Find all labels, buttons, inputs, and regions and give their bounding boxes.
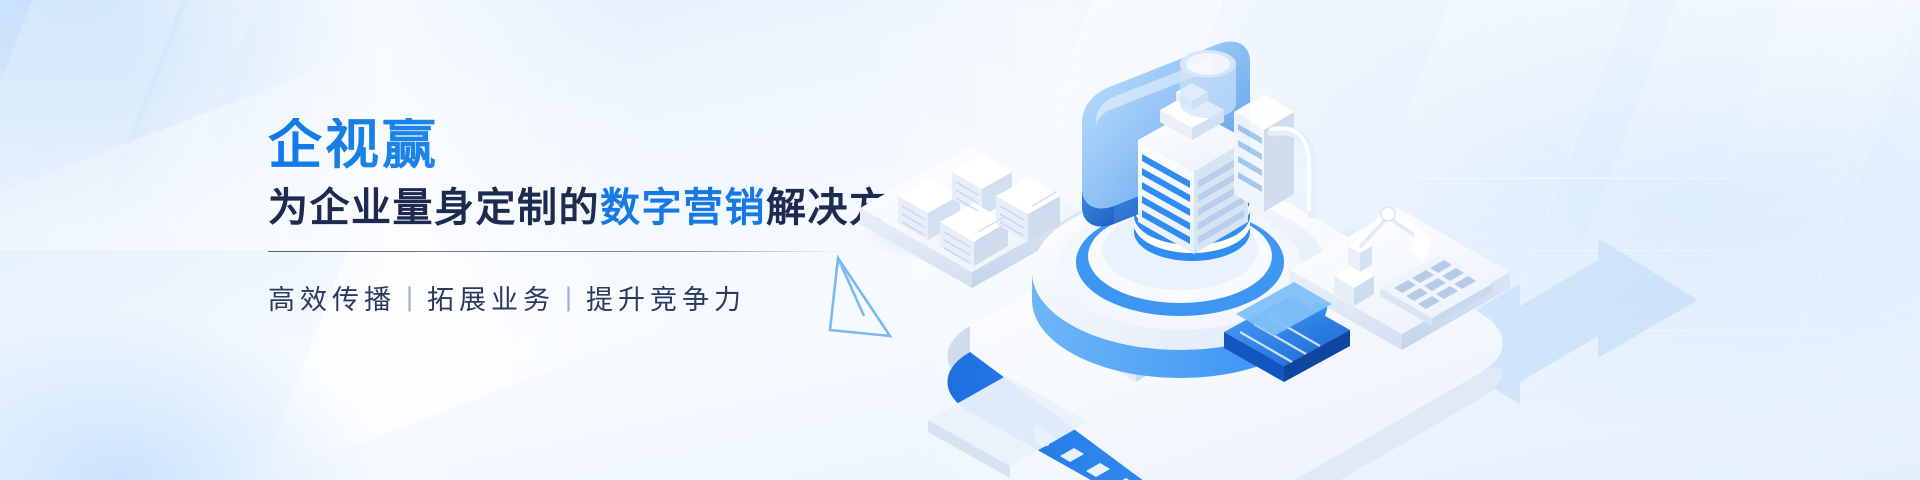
isometric-illustration (820, 0, 1920, 480)
tagline-separator-1: | (565, 282, 572, 313)
hero-copy: 企视赢 为企业量身定制的数字营销解决方案 高效传播 | 拓展业务 | 提升竞争力 (268, 118, 908, 317)
subtitle-highlight: 数字营销 (600, 186, 766, 230)
tagline-item-2: 提升竞争力 (586, 278, 746, 317)
subtitle-lead: 为企业量身定制的 (268, 186, 600, 230)
hero-banner: 企视赢 为企业量身定制的数字营销解决方案 高效传播 | 拓展业务 | 提升竞争力 (0, 0, 1920, 480)
tagline-item-1: 拓展业务 (427, 278, 555, 317)
bg-diagonal-stripe-1 (0, 0, 197, 480)
wireframe-triangle (830, 258, 890, 336)
tagline-item-0: 高效传播 (268, 278, 396, 317)
bg-glow-bottom-left (0, 310, 380, 480)
hero-tagline: 高效传播 | 拓展业务 | 提升竞争力 (268, 278, 908, 317)
bg-diagonal-stripe-2 (0, 0, 273, 480)
hero-subtitle: 为企业量身定制的数字营销解决方案 (268, 186, 908, 231)
glass-cylinder (1180, 50, 1236, 118)
divider-rule (268, 251, 843, 252)
slim-tower (1234, 94, 1294, 212)
tagline-separator-0: | (406, 282, 413, 313)
brand-title: 企视赢 (268, 118, 908, 172)
